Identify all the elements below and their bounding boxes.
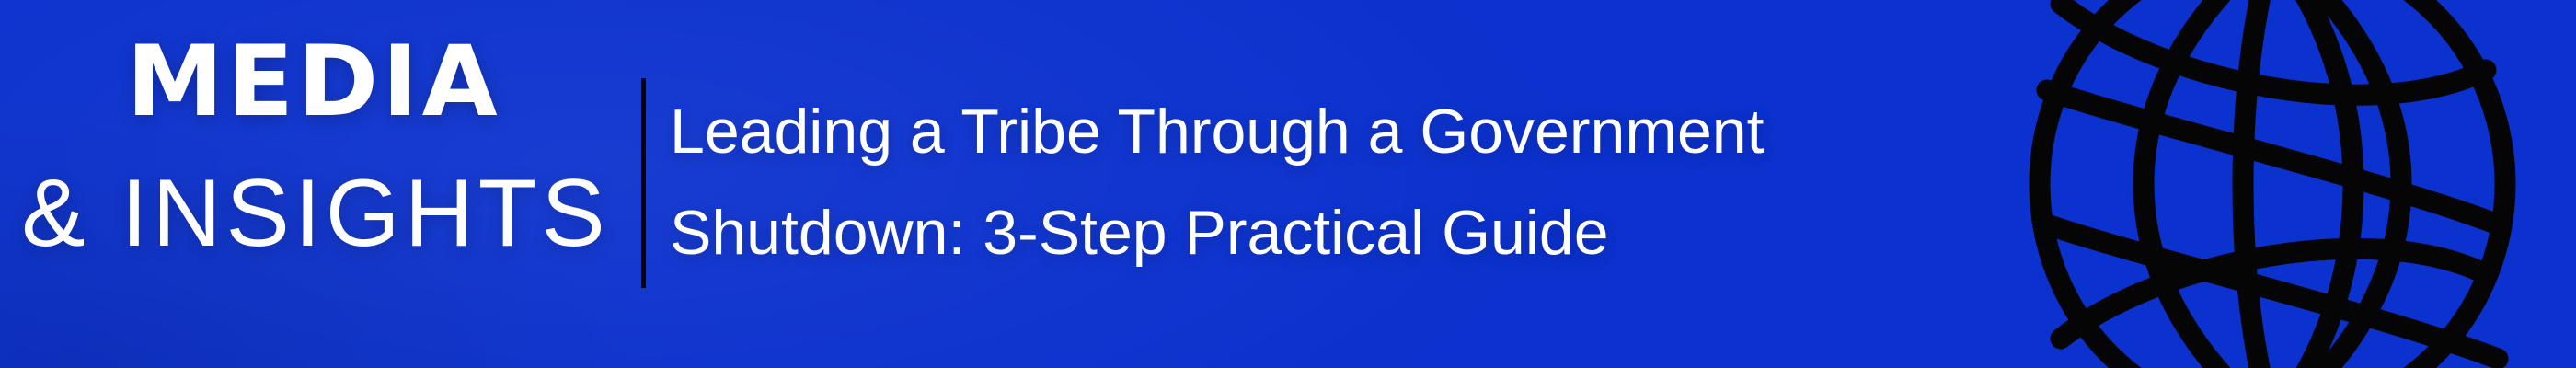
headline: Leading a Tribe Through a Government Shu…: [670, 81, 2050, 283]
brand-lockup: MEDIA & INSIGHTS: [0, 0, 644, 368]
globe-graphic: [2006, 0, 2539, 368]
brand-name-secondary: & INSIGHTS: [0, 166, 644, 261]
vertical-divider: [641, 78, 646, 288]
media-insights-banner: MEDIA & INSIGHTS Leading a Tribe Through…: [0, 0, 2576, 368]
headline-line-2: Shutdown: 3-Step Practical Guide: [670, 182, 2050, 283]
globe-wireframe-icon: [2006, 0, 2539, 368]
headline-line-1: Leading a Tribe Through a Government: [670, 81, 2050, 182]
brand-name-primary: MEDIA: [0, 33, 644, 131]
